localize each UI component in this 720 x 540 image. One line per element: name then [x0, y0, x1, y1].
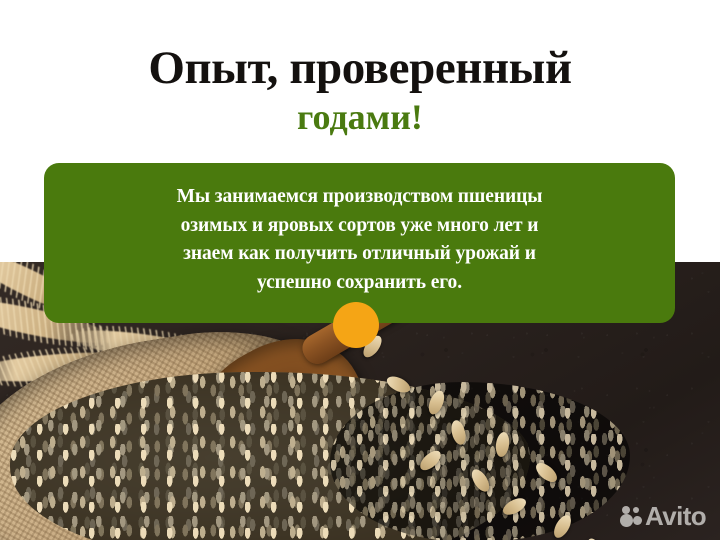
avito-wordmark: Avito [645, 503, 706, 529]
description-card: Мы занимаемся производством пшеницы озим… [44, 163, 675, 323]
description-line: Мы занимаемся производством пшеницы [100, 183, 619, 212]
orange-circle-dot-icon [333, 302, 379, 348]
avito-dots-logo-icon [620, 506, 641, 527]
heading-line-2: годами! [0, 99, 720, 136]
heading-line-1: Опыт, проверенный [0, 44, 720, 93]
description-line: успешно сохранить его. [100, 269, 619, 298]
page-title: Опыт, проверенный годами! [0, 44, 720, 136]
avito-watermark: Avito [620, 503, 706, 529]
description-line: озимых и яровых сортов уже много лет и [100, 212, 619, 241]
description-line: знаем как получить отличный урожай и [100, 240, 619, 269]
promo-banner: Опыт, проверенный годами! Мы занимаемся … [0, 0, 720, 540]
grain-spill [330, 382, 630, 540]
